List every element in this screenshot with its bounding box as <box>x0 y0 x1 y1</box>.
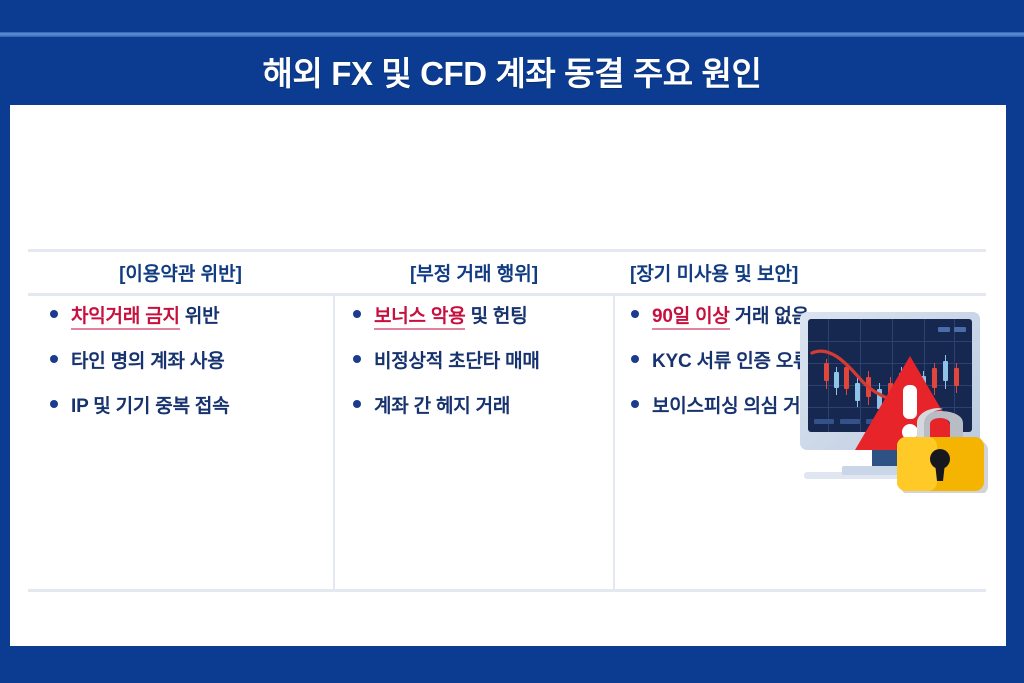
highlighted-text: 보너스 악용 <box>374 306 465 330</box>
page-title: 해외 FX 및 CFD 계좌 동결 주요 원인 <box>263 47 762 95</box>
column-body-abusive-trading: 보너스 악용 및 헌팅 비정상적 초단타 매매 계좌 간 헤지 거래 <box>353 301 613 436</box>
bullet-dot-icon <box>353 355 361 363</box>
list-item-label: 차익거래 금지 위반 <box>71 301 219 328</box>
bullet-dot-icon <box>631 355 639 363</box>
column-header-terms-violation: [이용약관 위반] <box>28 253 333 291</box>
column-body-terms-violation: 차익거래 금지 위반 타인 명의 계좌 사용 IP 및 기기 중복 접속 <box>50 301 333 436</box>
list-item-label: IP 및 기기 중복 접속 <box>71 391 229 418</box>
table-rule-bottom <box>28 589 986 592</box>
list-item: 차익거래 금지 위반 <box>50 301 333 346</box>
highlighted-text: 90일 이상 <box>652 306 730 330</box>
list-item-label: KYC 서류 인증 오류 <box>652 346 810 373</box>
bullet-dot-icon <box>50 355 58 363</box>
table-divider-1 <box>333 295 335 589</box>
table-rule-header <box>28 293 986 296</box>
column-header-abusive-trading: [부정 거래 행위] <box>335 253 613 291</box>
bullet-dot-icon <box>50 310 58 318</box>
top-accent-line <box>0 32 1024 37</box>
bullet-dot-icon <box>353 310 361 318</box>
title-bar: 해외 FX 및 CFD 계좌 동결 주요 원인 <box>0 40 1024 102</box>
list-item: 타인 명의 계좌 사용 <box>50 346 333 391</box>
column-header-dormancy-security: [장기 미사용 및 보안] <box>615 253 986 291</box>
slide-canvas: 해외 FX 및 CFD 계좌 동결 주요 원인 [이용약관 위반] [부정 거래… <box>0 0 1024 683</box>
plain-text: 위반 <box>180 306 220 327</box>
table-rule-top <box>28 249 986 252</box>
padlock-icon <box>888 393 992 493</box>
table-divider-2 <box>613 295 615 589</box>
list-item: 보너스 악용 및 헌팅 <box>353 301 613 346</box>
list-item-label: 보너스 악용 및 헌팅 <box>374 301 527 328</box>
list-item-label: 90일 이상 거래 없음 <box>652 301 809 328</box>
bullet-dot-icon <box>631 310 639 318</box>
plain-text: 및 헌팅 <box>465 306 527 327</box>
list-item-label: 비정상적 초단타 매매 <box>374 346 540 373</box>
list-item: 비정상적 초단타 매매 <box>353 346 613 391</box>
list-item-label: 타인 명의 계좌 사용 <box>71 346 224 373</box>
bullet-dot-icon <box>631 400 639 408</box>
frozen-trading-account-illustration <box>790 300 1000 495</box>
list-item: 계좌 간 헤지 거래 <box>353 391 613 436</box>
bullet-dot-icon <box>50 400 58 408</box>
list-item: IP 및 기기 중복 접속 <box>50 391 333 436</box>
list-item-label: 계좌 간 헤지 거래 <box>374 391 510 418</box>
highlighted-text: 차익거래 금지 <box>71 306 180 330</box>
bullet-dot-icon <box>353 400 361 408</box>
